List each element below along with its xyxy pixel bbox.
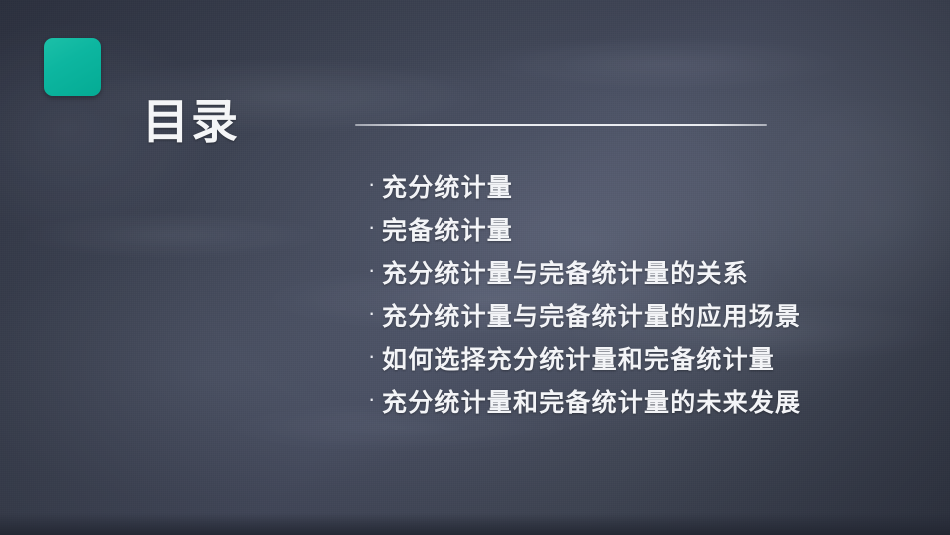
table-of-contents-list: · 充分统计量 · 完备统计量 · 充分统计量与完备统计量的关系 · 充分统计量… <box>368 164 801 422</box>
accent-square-decoration <box>44 38 101 96</box>
bullet-dot-icon: · <box>368 173 382 195</box>
bullet-dot-icon: · <box>368 216 382 238</box>
list-item-label: 充分统计量与完备统计量的应用场景 <box>382 297 801 333</box>
list-item[interactable]: · 如何选择充分统计量和完备统计量 <box>368 336 801 379</box>
bullet-dot-icon: · <box>368 345 382 367</box>
list-item[interactable]: · 充分统计量和完备统计量的未来发展 <box>368 379 801 422</box>
list-item[interactable]: · 充分统计量与完备统计量的应用场景 <box>368 293 801 336</box>
bottom-shadow-band <box>0 513 950 535</box>
list-item-label: 充分统计量 <box>382 168 513 204</box>
page-title: 目录 <box>142 97 240 146</box>
list-item-label: 充分统计量与完备统计量的关系 <box>382 254 749 290</box>
title-divider-rule <box>355 124 767 126</box>
list-item[interactable]: · 完备统计量 <box>368 207 801 250</box>
bullet-dot-icon: · <box>368 259 382 281</box>
bullet-dot-icon: · <box>368 388 382 410</box>
list-item-label: 完备统计量 <box>382 211 513 247</box>
list-item-label: 充分统计量和完备统计量的未来发展 <box>382 383 801 419</box>
presentation-slide: 目录 · 充分统计量 · 完备统计量 · 充分统计量与完备统计量的关系 · 充分… <box>0 0 950 535</box>
bullet-dot-icon: · <box>368 302 382 324</box>
list-item[interactable]: · 充分统计量 <box>368 164 801 207</box>
list-item-label: 如何选择充分统计量和完备统计量 <box>382 340 775 376</box>
list-item[interactable]: · 充分统计量与完备统计量的关系 <box>368 250 801 293</box>
